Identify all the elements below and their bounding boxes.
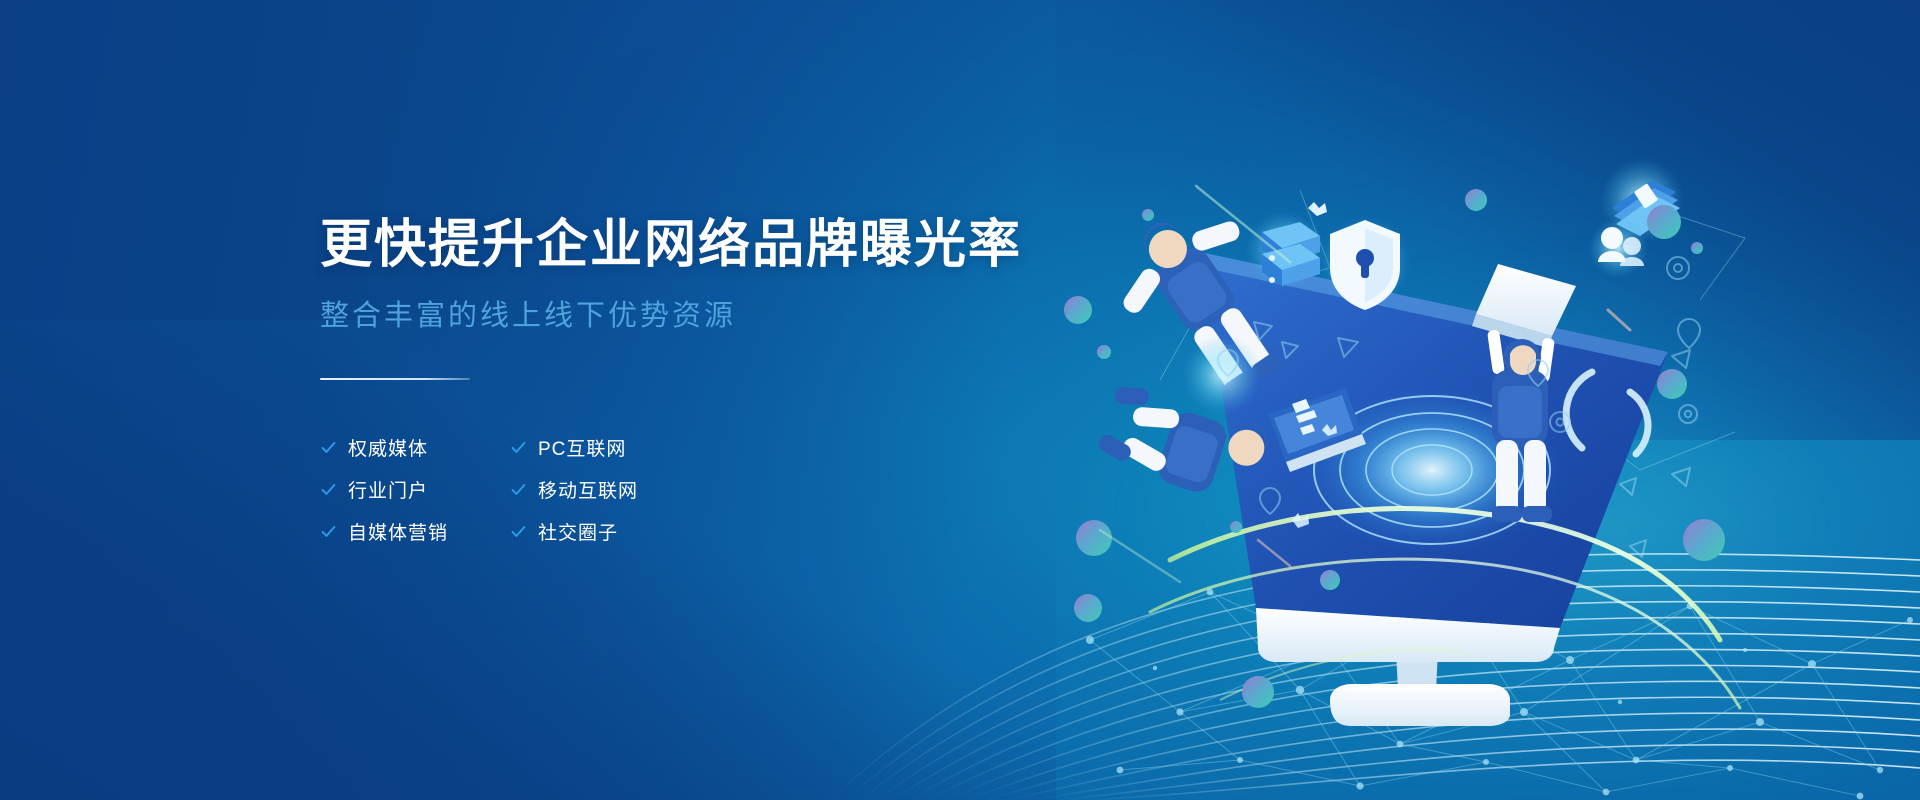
- hero-banner: 更快提升企业网络品牌曝光率 整合丰富的线上线下优势资源 权威媒体 PC互联网: [0, 0, 1920, 800]
- feature-item-mobile-internet: 移动互联网: [510, 476, 700, 503]
- page-title: 更快提升企业网络品牌曝光率: [320, 216, 940, 274]
- check-icon: [510, 481, 527, 498]
- feature-label: 社交圈子: [538, 518, 618, 545]
- feature-label: 权威媒体: [348, 434, 428, 461]
- check-icon: [320, 523, 337, 540]
- feature-label: 移动互联网: [538, 476, 638, 503]
- check-icon: [510, 523, 527, 540]
- feature-label: PC互联网: [538, 434, 626, 461]
- hero-copy-block: 更快提升企业网络品牌曝光率 整合丰富的线上线下优势资源 权威媒体 PC互联网: [320, 216, 940, 552]
- check-icon: [510, 439, 527, 456]
- feature-item-pc-internet: PC互联网: [510, 434, 700, 461]
- check-icon: [320, 481, 337, 498]
- feature-item-social-circle: 社交圈子: [510, 518, 700, 545]
- check-icon: [320, 439, 337, 456]
- feature-label: 行业门户: [348, 476, 428, 503]
- feature-item-self-media-marketing: 自媒体营销: [320, 518, 510, 545]
- divider-rule: [320, 378, 470, 380]
- feature-label: 自媒体营销: [348, 518, 448, 545]
- background-topright-vignette: [1056, 0, 1920, 440]
- feature-list: 权威媒体 PC互联网 行业门户 移动互联网: [320, 426, 940, 552]
- feature-item-authoritative-media: 权威媒体: [320, 434, 510, 461]
- page-subtitle: 整合丰富的线上线下优势资源: [320, 292, 940, 334]
- feature-item-industry-portal: 行业门户: [320, 476, 510, 503]
